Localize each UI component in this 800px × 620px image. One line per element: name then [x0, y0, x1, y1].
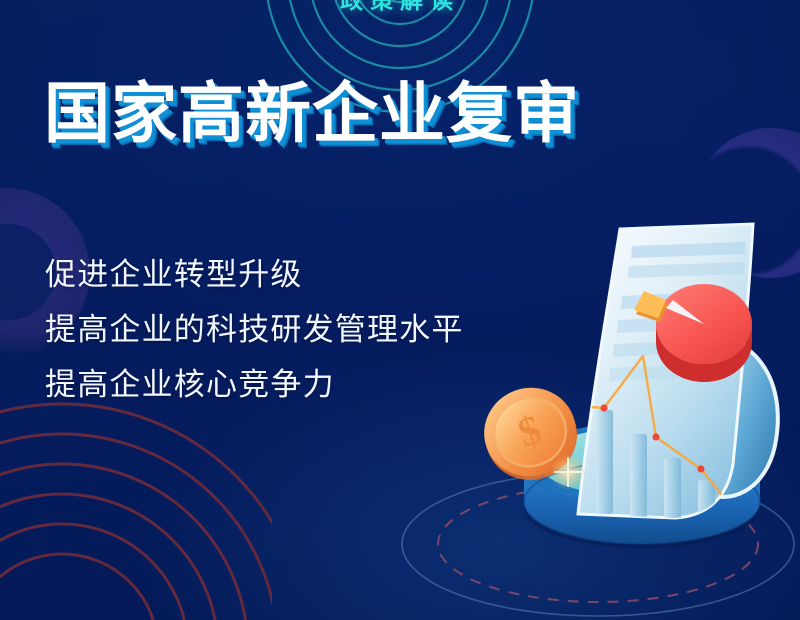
- top-caption: 政策解读: [0, 0, 800, 15]
- subtitle-list: 促进企业转型升级 提高企业的科技研发管理水平 提高企业核心竞争力: [45, 247, 515, 412]
- poster-root: 政策解读 国家高新企业复审 促进企业转型升级 提高企业的科技研发管理水平 提高企…: [0, 0, 800, 620]
- subtitle-line: 提高企业核心竞争力: [45, 357, 515, 412]
- page-title: 国家高新企业复审: [44, 79, 580, 149]
- report-illustration: $: [470, 196, 800, 620]
- subtitle-line: 促进企业转型升级: [45, 247, 515, 302]
- subtitle-line: 提高企业的科技研发管理水平: [45, 302, 515, 357]
